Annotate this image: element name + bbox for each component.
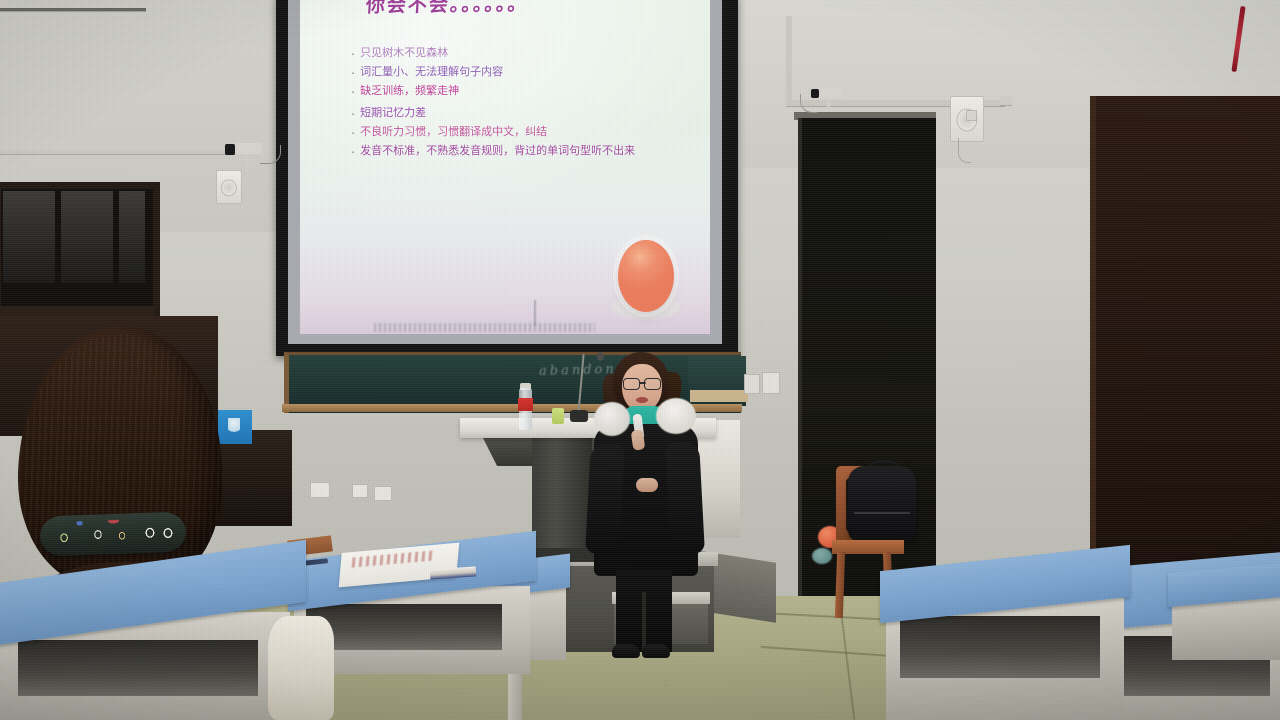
green-cup[interactable] xyxy=(552,408,564,424)
wall-outlet[interactable] xyxy=(352,484,368,498)
camera-body xyxy=(818,88,842,98)
slide-bullet-3: ▪ 缺乏训练，频繁走神 xyxy=(352,84,702,98)
pencil-case-pattern xyxy=(46,518,183,553)
conduit-pipe-right-vertical xyxy=(786,16,792,106)
slide-bullet-4: ▪ 短期记忆力差 xyxy=(352,106,702,120)
conduit-pipe-left xyxy=(0,150,236,154)
backpack-zipper xyxy=(854,512,910,514)
window-left xyxy=(0,182,160,326)
slide-bullet-text: 缺乏训练，频繁走神 xyxy=(360,84,459,98)
presenter-hand-open xyxy=(636,478,658,492)
desk-cubby xyxy=(900,616,1100,678)
slide-bullet-text: 不良听力习惯，习惯翻译成中文，纠结 xyxy=(360,125,547,139)
wall-switch-plate[interactable] xyxy=(744,374,760,394)
classroom-scene: 你会不会。。。。。。 ▪ 只见树木不见森林 ▪ 词汇量小、无法理解句子内容 ▪ … xyxy=(0,0,1280,720)
water-bottle-label xyxy=(518,398,533,411)
camera-lens-icon xyxy=(225,144,235,155)
window-pane xyxy=(3,191,55,283)
presenter-shoe-left xyxy=(612,644,640,658)
bullet-marker-icon: ▪ xyxy=(352,71,354,77)
presenter-shoe-right xyxy=(642,644,670,658)
camera-mount-arm xyxy=(827,98,830,110)
bullet-marker-icon: ▪ xyxy=(352,112,354,118)
presenter xyxy=(580,352,708,682)
slide-bullet-text: 短期记忆力差 xyxy=(360,106,426,120)
slide-bullet-5: ▪ 不良听力习惯，习惯翻译成中文，纠结 xyxy=(352,125,702,139)
slide-bullet-list: ▪ 只见树木不见森林 ▪ 词汇量小、无法理解句子内容 ▪ 缺乏训练，频繁走神 ▪… xyxy=(352,46,702,163)
presenter-glasses-icon xyxy=(623,378,661,388)
bullet-marker-icon: ▪ xyxy=(352,52,354,58)
bullet-marker-icon: ▪ xyxy=(352,150,354,156)
wall-speaker-left xyxy=(216,170,242,204)
glasses-lens-right xyxy=(644,378,661,390)
wall-outlet[interactable] xyxy=(310,482,330,498)
camera-mount-arm xyxy=(246,154,249,168)
wall-outlet[interactable] xyxy=(966,110,977,121)
speaker-cable xyxy=(958,138,971,163)
black-backpack[interactable] xyxy=(848,466,916,542)
bullet-marker-icon: ▪ xyxy=(352,90,354,96)
conduit-junction xyxy=(1000,96,1012,105)
presenter-fur-collar-left xyxy=(594,402,630,436)
projected-slide: 你会不会。。。。。。 ▪ 只见树木不见森林 ▪ 词汇量小、无法理解句子内容 ▪ … xyxy=(300,0,710,334)
glasses-lens-left xyxy=(623,378,640,390)
window-pane xyxy=(119,191,145,283)
slide-bullet-6: ▪ 发音不标准，不熟悉发音规则，背过的单词句型听不出来 xyxy=(352,144,702,158)
wall-switch-plate[interactable] xyxy=(762,372,780,394)
teal-ball xyxy=(812,548,832,564)
slide-skyline-tower xyxy=(534,300,536,326)
window-pane xyxy=(61,191,113,283)
slide-bullet-1: ▪ 只见树木不见森林 xyxy=(352,46,702,60)
bullet-marker-icon: ▪ xyxy=(352,131,354,137)
slide-bullet-text: 发音不标准，不熟悉发音规则，背过的单词句型听不出来 xyxy=(360,144,635,158)
desk-cubby xyxy=(18,640,258,696)
slide-bullet-text: 词汇量小、无法理解句子内容 xyxy=(360,65,503,79)
white-coat-draped xyxy=(268,616,334,720)
presenter-leg-gap xyxy=(642,592,646,652)
presenter-sleeve-left xyxy=(585,443,625,555)
desk-cubby xyxy=(306,604,502,650)
wall-outlet[interactable] xyxy=(374,486,392,501)
slide-bullet-text: 只见树木不见森林 xyxy=(360,46,448,60)
slide-title: 你会不会。。。。。。 xyxy=(365,0,529,18)
slide-bullet-2: ▪ 词汇量小、无法理解句子内容 xyxy=(352,65,702,79)
slide-orange-oval-graphic xyxy=(618,240,674,312)
camera-body xyxy=(234,143,262,154)
presenter-mouth xyxy=(636,397,648,403)
presenter-sleeve-right xyxy=(665,441,705,555)
conduit-pipe-ceiling xyxy=(0,8,146,11)
presenter-fur-collar-right xyxy=(656,398,696,434)
